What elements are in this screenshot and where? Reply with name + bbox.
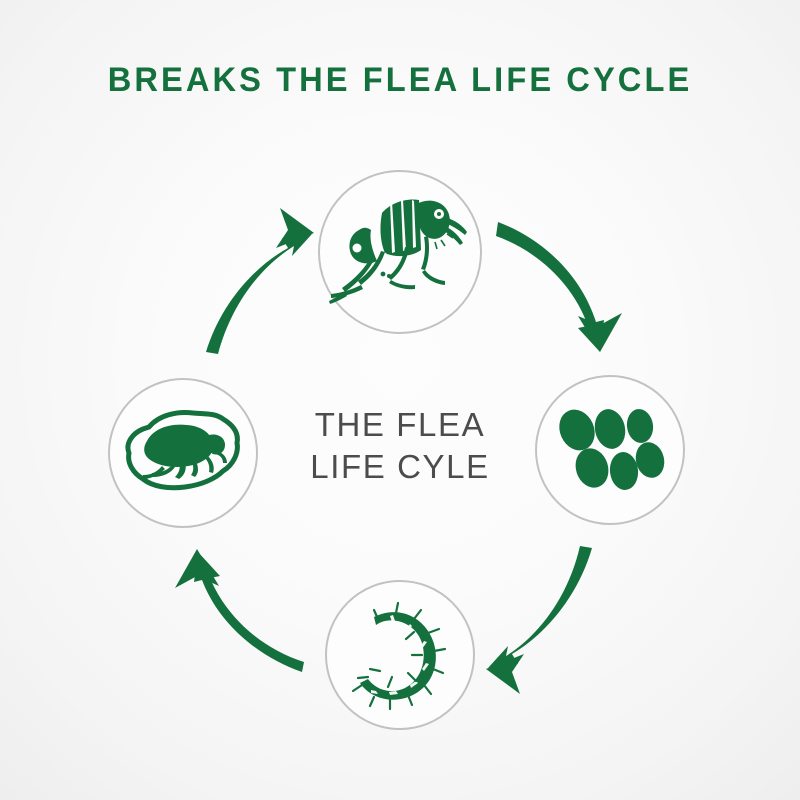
page-title: BREAKS THE FLEA LIFE CYCLE	[16, 60, 784, 100]
cycle-node-pupa[interactable]	[108, 378, 258, 528]
arrow-pupa-to-adult	[206, 234, 312, 354]
arrow-larva-to-pupa	[194, 552, 304, 672]
flea-pupa-cocoon-icon	[121, 407, 245, 499]
adult-flea-icon	[329, 186, 471, 318]
center-label: THE FLEA LIFE CYLE	[250, 404, 550, 488]
cycle-node-adult-flea[interactable]	[318, 170, 482, 334]
flea-larva-icon	[344, 599, 456, 711]
flea-eggs-icon	[555, 400, 665, 500]
center-label-line-2: LIFE CYLE	[250, 446, 550, 488]
arrow-eggs-to-larva	[488, 546, 592, 668]
cycle-node-eggs[interactable]	[535, 375, 685, 525]
arrow-adult-to-eggs	[496, 222, 604, 352]
cycle-node-larva[interactable]	[325, 580, 475, 730]
center-label-line-1: THE FLEA	[250, 404, 550, 446]
infographic-canvas: BREAKS THE FLEA LIFE CYCLE .arr { fill: …	[0, 0, 800, 800]
